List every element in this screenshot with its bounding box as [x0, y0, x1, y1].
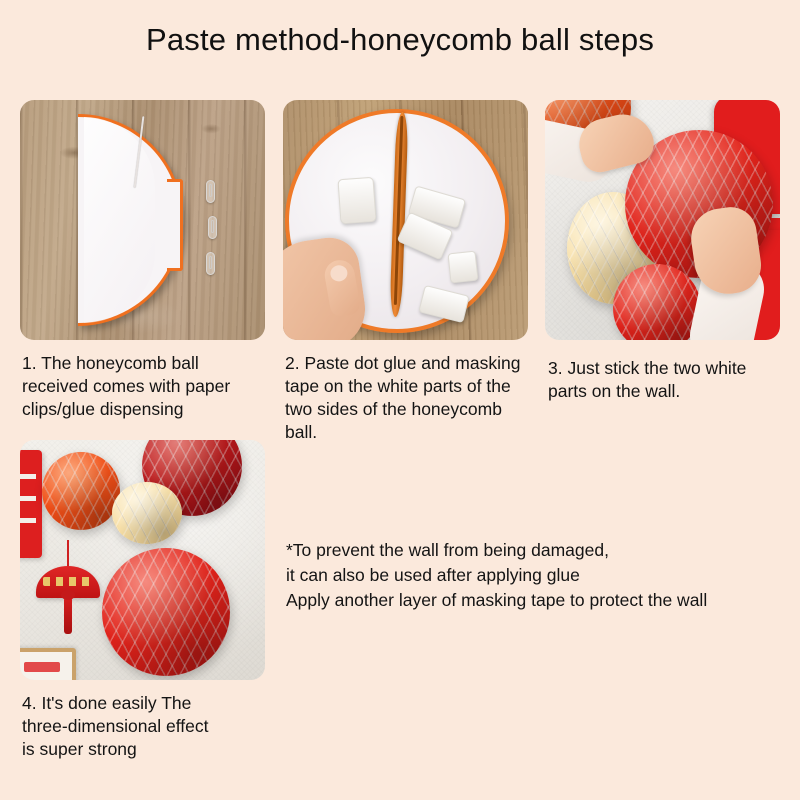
photo-step-3-sticking-ball-on-wall	[545, 100, 780, 340]
honeycomb-ball-red-small	[613, 264, 701, 340]
fan-hanging-string	[67, 540, 69, 568]
paper-clip-icon	[206, 252, 215, 275]
page-title: Paste method-honeycomb ball steps	[0, 22, 800, 58]
caption-step-4: 4. It's done easily The three-dimensiona…	[22, 692, 277, 761]
warning-note: *To prevent the wall from being damaged,…	[286, 538, 786, 613]
photo-step-4-finished-display	[20, 440, 265, 680]
tassel-icon	[64, 596, 72, 634]
picture-frame	[20, 648, 76, 680]
caption-step-2: 2. Paste dot glue and masking tape on th…	[285, 352, 535, 444]
red-paper-character	[20, 450, 42, 558]
paper-clip-icon	[208, 216, 217, 239]
caption-step-1: 1. The honeycomb ball received comes wit…	[22, 352, 272, 421]
photo-step-1-folded-honeycomb-on-wood	[20, 100, 265, 340]
paper-clip-icon	[206, 180, 215, 203]
honeycomb-ball-red-large	[102, 548, 230, 676]
masking-tape-piece	[337, 177, 376, 224]
honeycomb-ball-orange	[42, 452, 120, 530]
honeycomb-ball-cream	[112, 482, 182, 544]
masking-tape-piece	[448, 251, 479, 284]
infographic-page: Paste method-honeycomb ball steps 1. The…	[0, 0, 800, 800]
caption-step-3: 3. Just stick the two white parts on the…	[548, 357, 798, 403]
photo-step-2-tape-on-white-parts	[283, 100, 528, 340]
